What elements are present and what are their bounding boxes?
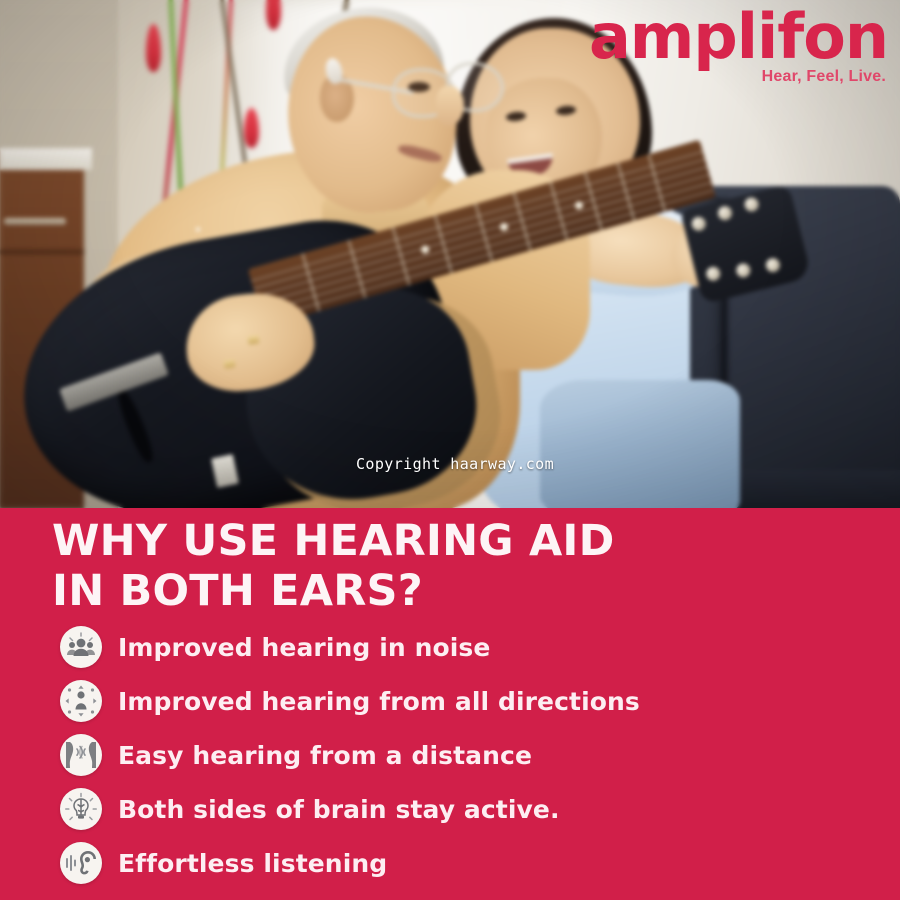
list-item-label: Improved hearing in noise: [118, 633, 490, 662]
brand-logo: amplifon Hear, Feel, Live.: [589, 8, 888, 86]
list-item-label: Both sides of brain stay active.: [118, 795, 560, 824]
finger-ring-1: [247, 335, 259, 344]
guitar-tuning-peg: [716, 205, 733, 222]
directions-arrows-icon: [60, 680, 102, 722]
sideboard-drawer-seam: [0, 250, 84, 254]
list-item: Effortless listening: [60, 836, 860, 890]
brand-wordmark: amplifon: [589, 8, 888, 66]
guitar-tuning-peg: [705, 265, 722, 282]
ear-soundwave-icon: [60, 842, 102, 884]
child-jeans: [540, 380, 740, 508]
brain-active-icon: [60, 788, 102, 830]
advertisement-poster: Copyright haarway.com amplifon Hear, Fee…: [0, 0, 900, 900]
list-item: Easy hearing from a distance: [60, 728, 860, 782]
man-eye: [408, 82, 430, 92]
list-item-label: Improved hearing from all directions: [118, 687, 640, 716]
guitar-tuning-peg: [690, 215, 707, 232]
list-item: Improved hearing in noise: [60, 620, 860, 674]
benefits-list: Improved hearing in noise: [60, 620, 860, 890]
list-item-label: Effortless listening: [118, 849, 387, 878]
sideboard-top-surface: [0, 148, 92, 170]
guitar-tuning-peg: [743, 196, 760, 213]
guitar-tuning-peg: [764, 257, 781, 274]
distance-profiles-icon: [60, 734, 102, 776]
copyright-watermark: Copyright haarway.com: [356, 455, 554, 473]
list-item: Improved hearing from all directions: [60, 674, 860, 728]
sideboard-handle: [4, 218, 66, 225]
list-item: Both sides of brain stay active.: [60, 782, 860, 836]
page-title: WHY USE HEARING AID IN BOTH EARS?: [52, 516, 752, 617]
list-item-label: Easy hearing from a distance: [118, 741, 532, 770]
benefits-panel: WHY USE HEARING AID IN BOTH EARS?: [0, 508, 900, 900]
crowd-noise-icon: [60, 626, 102, 668]
guitar-tuning-peg: [735, 262, 752, 279]
